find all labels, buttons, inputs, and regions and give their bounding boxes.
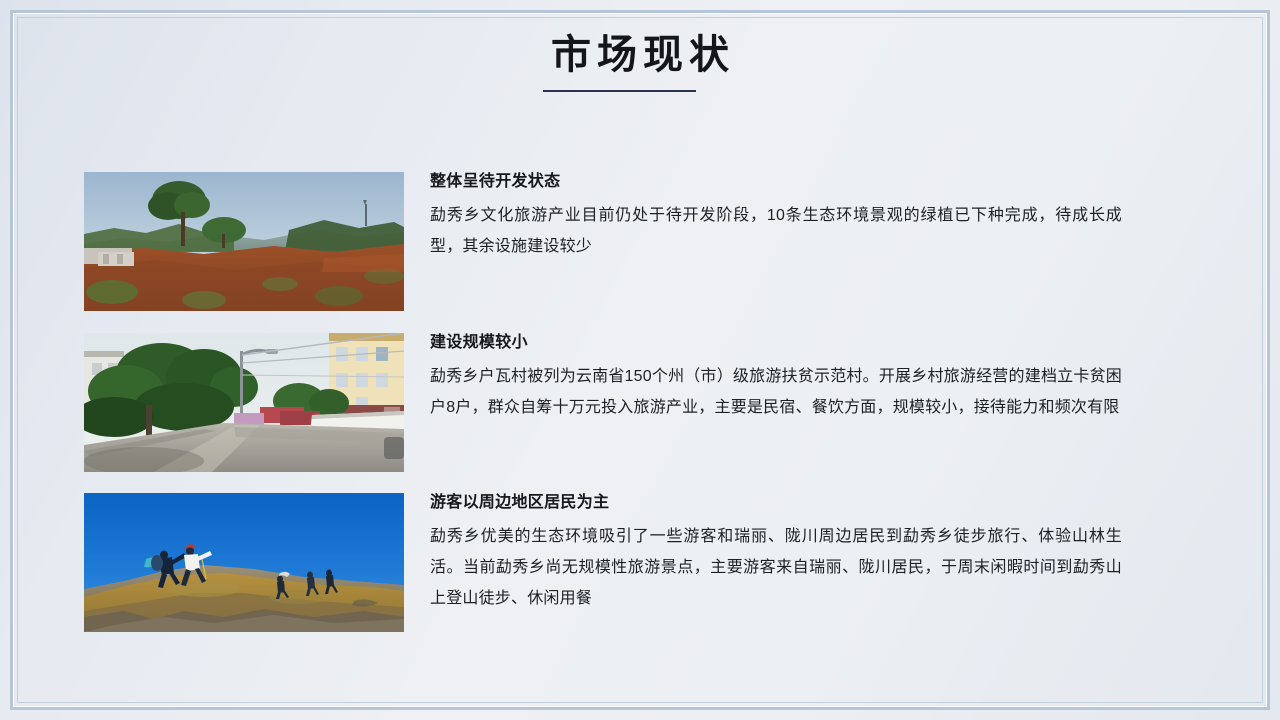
item-heading: 游客以周边地区居民为主 (430, 493, 1122, 513)
item-body: 勐秀乡优美的生态环境吸引了一些游客和瑞丽、陇川周边居民到勐秀乡徒步旅行、体验山林… (430, 521, 1122, 614)
slide-canvas: 市场现状 (0, 0, 1280, 720)
red-soil-development-land-photo (84, 172, 404, 311)
item-text-2: 建设规模较小 勐秀乡户瓦村被列为云南省150个州（市）级旅游扶贫示范村。开展乡村… (430, 333, 1122, 423)
item-text-3: 游客以周边地区居民为主 勐秀乡优美的生态环境吸引了一些游客和瑞丽、陇川周边居民到… (430, 493, 1122, 614)
item-heading: 整体呈待开发状态 (430, 172, 1122, 192)
item-body: 勐秀乡文化旅游产业目前仍处于待开发阶段，10条生态环境景观的绿植已下种完成，待成… (430, 200, 1122, 262)
hikers-on-ridge-photo (84, 493, 404, 632)
item-body: 勐秀乡户瓦村被列为云南省150个州（市）级旅游扶贫示范村。开展乡村旅游经营的建档… (430, 361, 1122, 423)
village-street-buildings-photo (84, 333, 404, 472)
item-thumbnail-3 (84, 493, 404, 632)
item-thumbnail-2 (84, 333, 404, 472)
content-list: 整体呈待开发状态 勐秀乡文化旅游产业目前仍处于待开发阶段，10条生态环境景观的绿… (0, 0, 1280, 720)
item-text-1: 整体呈待开发状态 勐秀乡文化旅游产业目前仍处于待开发阶段，10条生态环境景观的绿… (430, 172, 1122, 262)
item-thumbnail-1 (84, 172, 404, 311)
item-heading: 建设规模较小 (430, 333, 1122, 353)
